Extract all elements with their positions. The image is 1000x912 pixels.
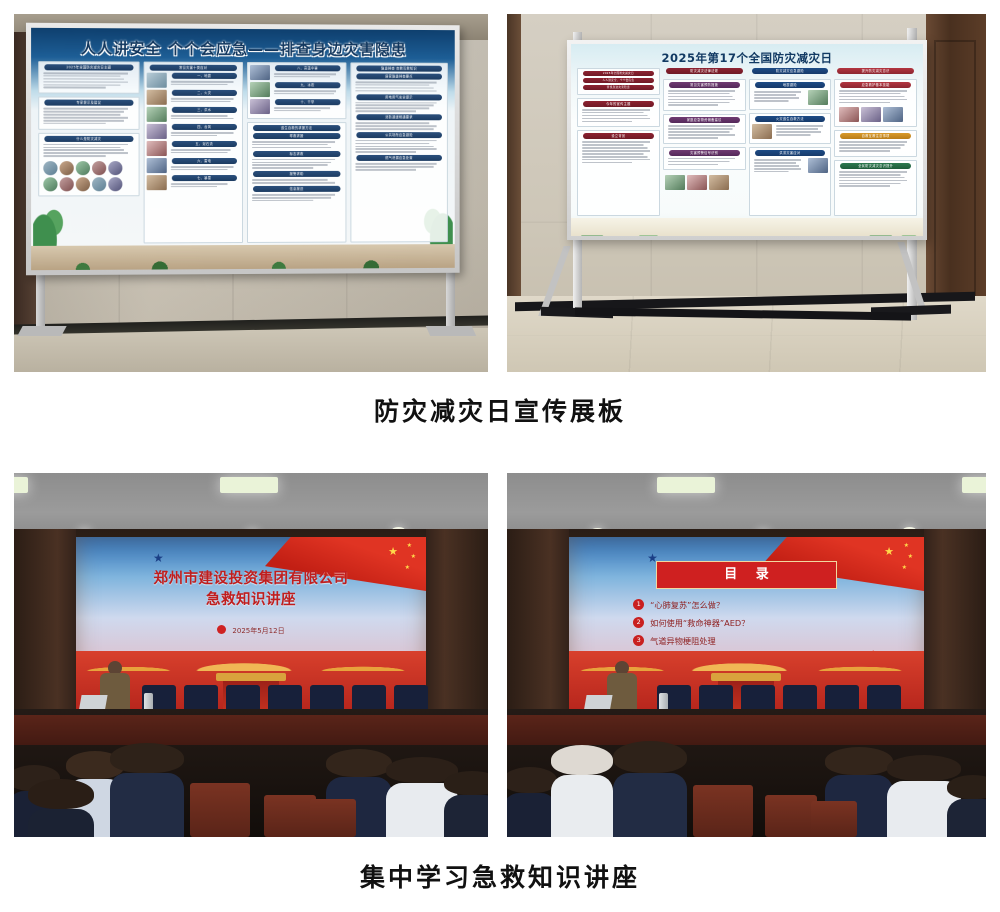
poster-illustration bbox=[146, 158, 166, 173]
flag-star-icon: ★ bbox=[407, 541, 412, 552]
poster-item-header: 三、洪水 bbox=[171, 107, 237, 113]
bench-row bbox=[507, 715, 986, 745]
poster-2-title: 2025年第17个全国防灾减灾日 bbox=[571, 50, 923, 66]
photo-lecture-1: ★ ★ ★ ★ ★ 郑州市建设投资集团有限公司 急救知识讲座 2025年5月12… bbox=[14, 473, 488, 837]
poster-thumbnail bbox=[76, 161, 90, 175]
poster-thumbnail bbox=[108, 161, 122, 175]
toc-title-bar: 目 录 bbox=[656, 561, 837, 589]
poster-illustration bbox=[146, 107, 166, 122]
poster-illustration bbox=[665, 175, 685, 190]
poster-item-header: 五、泥石流 bbox=[171, 141, 237, 147]
poster-1-columns: 2025年全国防灾减灾日主题 专家提示及建议 什么是 bbox=[38, 61, 448, 244]
poster-list-item bbox=[752, 158, 829, 175]
poster-thumbnail bbox=[92, 177, 106, 191]
poster-block: 什么是防灾减灾 bbox=[38, 133, 139, 197]
audience-area-1 bbox=[14, 709, 488, 837]
poster-block-header: 专家提示及建议 bbox=[44, 100, 133, 106]
poster-item-header: 呼救求援 bbox=[253, 133, 340, 139]
audience-person bbox=[28, 779, 94, 837]
ceiling-panel-light bbox=[14, 477, 28, 493]
audience-person bbox=[551, 745, 613, 837]
poster-illustration bbox=[146, 175, 166, 190]
poster-illustration bbox=[146, 90, 166, 105]
poster-list-text: 五、泥石流 bbox=[168, 141, 240, 156]
poster-block-header: 今年的宣传主题 bbox=[583, 101, 654, 107]
poster-item-header: 八、高温中暑 bbox=[275, 65, 340, 71]
poster-block: 洪涝灾害应对 bbox=[749, 147, 832, 216]
poster-illustration-row bbox=[837, 105, 914, 124]
poster-block: 设立背景 bbox=[577, 130, 660, 216]
poster-column-header: 防灾减灾应急避险 bbox=[752, 68, 829, 74]
photo-collage-page: 人人讲安全 个个会应急——排查身边灾害隐患 2025年全国防灾减灾日主题 专家提… bbox=[0, 0, 1000, 912]
poster-item-header: 用电用气安全提示 bbox=[356, 94, 442, 100]
poster-list-item: 三、洪水 bbox=[146, 107, 240, 122]
poster-list-item bbox=[752, 124, 829, 139]
poster-2-column-1: 2025年全国防灾减灾日 人人讲安全、个个会应急 查找身边灾害隐患 今年的宣传主… bbox=[577, 68, 660, 216]
poster-item-header: 七、暴雪 bbox=[171, 175, 237, 181]
poster-illustration bbox=[146, 73, 166, 88]
poster-item-header: 信息报送 bbox=[253, 186, 340, 192]
board-foot-right bbox=[426, 326, 476, 336]
poster-item-header: 四、台风 bbox=[171, 124, 237, 130]
poster-item-header: 报警求助 bbox=[253, 171, 340, 177]
poster-block-header: 常见灾害十类应对 bbox=[149, 65, 237, 71]
poster-1-footer-decoration bbox=[31, 244, 455, 270]
speaker-person bbox=[607, 661, 637, 715]
poster-block: 全民防灾减灾意识提升 bbox=[834, 160, 917, 216]
audience-person bbox=[444, 771, 488, 837]
caption-1: 防灾减灾日宣传展板 bbox=[0, 392, 1000, 428]
flag-star-icon: ★ bbox=[405, 563, 410, 574]
stand-base-right bbox=[875, 242, 949, 322]
date-bullet-icon bbox=[217, 625, 226, 634]
poster-block-header: 2025年全国防灾减灾日主题 bbox=[44, 64, 133, 70]
poster-list-text: 四、台风 bbox=[168, 124, 240, 139]
poster-illustration bbox=[250, 82, 270, 97]
poster-1-column-2: 常见灾害十类应对 一、地震 二 bbox=[143, 62, 243, 244]
slide-title-line-1: 郑州市建设投资集团有限公司 bbox=[104, 569, 398, 590]
flag-star-icon: ★ bbox=[908, 552, 913, 563]
poster-list-item: 二、火灾 bbox=[146, 90, 240, 105]
poster-1-column-3: 八、高温中暑 九、冰雹 bbox=[247, 62, 346, 243]
poster-list-item: 十、干旱 bbox=[250, 99, 343, 114]
poster-block-header: 地震避险 bbox=[755, 82, 826, 88]
slide-content-2: 目 录 1 “心肺复苏”怎么做？ 2 如何使用“救命神器”AED？ 3 气道异物… bbox=[597, 559, 895, 653]
photo-lecture-2: ★ ★ ★ ★ ★ 目 录 1 “心肺复苏”怎么做？ 2 如何使用“救命神器”A… bbox=[507, 473, 986, 837]
blue-star-icon: ★ bbox=[153, 551, 164, 566]
ceiling-panel-light bbox=[657, 477, 715, 493]
poster-block-text bbox=[41, 72, 136, 91]
poster-item-header: 标志求救 bbox=[253, 151, 340, 157]
toc-item-label: “心肺复苏”怎么做？ bbox=[650, 599, 724, 611]
poster-2-column-3: 防灾减灾应急避险 地震避险 火灾逃生自救方法 bbox=[749, 68, 832, 216]
poster-item-header: 十、干旱 bbox=[275, 99, 340, 105]
poster-block: 火灾逃生自救方法 bbox=[749, 113, 832, 144]
audience-person bbox=[613, 741, 687, 837]
poster-item-header: 二、火灾 bbox=[171, 90, 237, 96]
photo-board-2: 2025年第17个全国防灾减灾日 2025年全国防灾减灾日 人人讲安全、个个会应… bbox=[507, 14, 986, 372]
poster-illustration bbox=[687, 175, 707, 190]
poster-block-header: 全民防灾减灾意识提升 bbox=[840, 163, 911, 169]
board-leg-left bbox=[36, 272, 45, 334]
poster-list-item: 七、暴雪 bbox=[146, 175, 240, 190]
poster-thumbnail bbox=[43, 161, 57, 175]
poster-thumbnail-grid bbox=[41, 159, 136, 193]
poster-illustration bbox=[250, 65, 270, 80]
poster-illustration bbox=[839, 107, 859, 122]
poster-1-title: 人人讲安全 个个会应急——排查身边灾害隐患 bbox=[31, 37, 455, 60]
poster-block: 地震避险 bbox=[749, 79, 832, 110]
poster-thumbnail bbox=[76, 177, 90, 191]
poster-block: 2025年全国防灾减灾日主题 bbox=[38, 61, 139, 94]
poster-block: 应急救护基本技能 bbox=[834, 79, 917, 127]
poster-thumbnail bbox=[43, 177, 57, 191]
poster-list-text: 七、暴雪 bbox=[168, 175, 240, 190]
poster-thumbnail bbox=[92, 161, 106, 175]
poster-block-header: 逃生自救的求援方法 bbox=[253, 125, 340, 131]
chair bbox=[310, 799, 356, 837]
poster-block-header: 自救互救注意事项 bbox=[840, 133, 911, 139]
poster-illustration bbox=[250, 99, 270, 114]
poster-illustration bbox=[709, 175, 729, 190]
poster-list-text: 十、干旱 bbox=[272, 99, 343, 114]
poster-block: 八、高温中暑 九、冰雹 bbox=[247, 62, 346, 119]
audience-area-2 bbox=[507, 709, 986, 837]
poster-list-text: 六、雷电 bbox=[168, 158, 240, 173]
audience-person bbox=[507, 767, 557, 837]
poster-list-item: 六、雷电 bbox=[146, 158, 240, 173]
poster-item-header: 居家隐患排查要点 bbox=[356, 73, 442, 79]
poster-block: 逃生自救的求援方法 呼救求援 标志求救 报警求助 信息报送 bbox=[247, 122, 346, 243]
poster-item-header: 九、冰雹 bbox=[275, 82, 340, 88]
poster-1-column-4: 隐患排查 自救互救知识 居家隐患排查要点 用电用气安全提示 消防通道畅通要求 公… bbox=[350, 62, 448, 242]
poster-list-text: 九、冰雹 bbox=[272, 82, 343, 97]
poster-1-column-1: 2025年全国防灾减灾日主题 专家提示及建议 什么是 bbox=[38, 61, 139, 244]
caption-2: 集中学习急救知识讲座 bbox=[0, 858, 1000, 894]
left-door-edge bbox=[507, 14, 521, 314]
poster-thumbnail bbox=[108, 177, 122, 191]
poster-column-header: 提升防灾减灾意识 bbox=[837, 68, 914, 74]
toc-item-label: 如何使用“救命神器”AED？ bbox=[650, 617, 749, 629]
audience-person bbox=[947, 775, 986, 837]
poster-illustration bbox=[808, 158, 828, 173]
photo-board-1: 人人讲安全 个个会应急——排查身边灾害隐患 2025年全国防灾减灾日主题 专家提… bbox=[14, 14, 488, 372]
poster-block-text bbox=[41, 144, 136, 160]
poster-2-column-2: 防灾减灾法律法规 常见灾害预防措施 家庭应急物资储备建议 灾害预警信号识别 bbox=[663, 68, 746, 216]
poster-list-item: 四、台风 bbox=[146, 124, 240, 139]
poster-block-header: 应急救护基本技能 bbox=[840, 82, 911, 88]
poster-surface-1: 人人讲安全 个个会应急——排查身边灾害隐患 2025年全国防灾减灾日主题 专家提… bbox=[31, 28, 455, 270]
poster-list-text: 三、洪水 bbox=[168, 107, 240, 122]
chair bbox=[264, 795, 316, 837]
ceiling-panel-light bbox=[962, 477, 986, 493]
poster-list-item: 一、地震 bbox=[146, 73, 240, 88]
poster-thumbnail bbox=[60, 177, 74, 191]
chair bbox=[765, 795, 817, 837]
poster-list-item: 九、冰雹 bbox=[250, 82, 343, 97]
flag-star-icon: ★ bbox=[884, 547, 894, 558]
toc-item: 1 “心肺复苏”怎么做？ bbox=[633, 599, 895, 611]
poster-badge-slogan-2: 查找身边灾害隐患 bbox=[583, 85, 654, 90]
poster-block: 常见灾害十类应对 一、地震 二 bbox=[143, 62, 243, 244]
poster-block-header: 常见灾害预防措施 bbox=[669, 82, 740, 88]
audience-person bbox=[110, 743, 184, 837]
poster-list-item bbox=[752, 90, 829, 105]
slide-title-line-2: 急救知识讲座 bbox=[104, 590, 398, 611]
poster-block: 常见灾害预防措施 bbox=[663, 79, 746, 111]
poster-block: 专家提示及建议 bbox=[38, 97, 139, 130]
slide-content-1: 郑州市建设投资集团有限公司 急救知识讲座 2025年5月12日 bbox=[104, 569, 398, 636]
poster-thumbnail bbox=[60, 161, 74, 175]
poster-list-item: 五、泥石流 bbox=[146, 141, 240, 156]
poster-list-item: 八、高温中暑 bbox=[250, 65, 343, 80]
flag-star-icon: ★ bbox=[904, 541, 909, 552]
poster-illustration bbox=[752, 124, 772, 139]
poster-block-header: 火灾逃生自救方法 bbox=[755, 116, 826, 122]
poster-surface-2: 2025年第17个全国防灾减灾日 2025年全国防灾减灾日 人人讲安全、个个会应… bbox=[571, 44, 923, 236]
poster-block: 自救互救注意事项 bbox=[834, 130, 917, 157]
poster-frame-1: 人人讲安全 个个会应急——排查身边灾害隐患 2025年全国防灾减灾日主题 专家提… bbox=[26, 23, 460, 276]
toc-item-number: 2 bbox=[633, 617, 644, 628]
slide-date-text: 2025年5月12日 bbox=[232, 627, 284, 635]
poster-badge-slogan-1: 人人讲安全、个个会应急 bbox=[583, 78, 654, 83]
slide-date: 2025年5月12日 bbox=[104, 625, 398, 636]
poster-item-header: 六、雷电 bbox=[171, 158, 237, 164]
poster-column-header: 防灾减灾法律法规 bbox=[666, 68, 743, 74]
poster-illustration bbox=[883, 107, 903, 122]
poster-block: 灾害预警信号识别 bbox=[663, 147, 746, 171]
poster-block-header: 什么是防灾减灾 bbox=[44, 136, 133, 142]
poster-block: 隐患排查 自救互救知识 居家隐患排查要点 用电用气安全提示 消防通道畅通要求 公… bbox=[350, 62, 448, 242]
poster-block: 今年的宣传主题 bbox=[577, 98, 660, 127]
poster-illustration-row bbox=[663, 173, 746, 192]
toc-item-number: 1 bbox=[633, 599, 644, 610]
poster-list-text: 二、火灾 bbox=[168, 90, 240, 105]
poster-illustration bbox=[146, 141, 166, 156]
poster-item-header: 一、地震 bbox=[171, 73, 237, 79]
poster-block-header: 家庭应急物资储备建议 bbox=[669, 117, 740, 123]
poster-illustration bbox=[146, 124, 166, 139]
poster-block-header: 灾害预警信号识别 bbox=[669, 150, 740, 156]
flag-star-icon: ★ bbox=[388, 547, 398, 558]
chair bbox=[811, 801, 857, 837]
poster-item-header: 公共场所应急避险 bbox=[356, 132, 442, 138]
poster-item-header: 消防通道畅通要求 bbox=[356, 114, 442, 120]
poster-badge: 2025年全国防灾减灾日 人人讲安全、个个会应急 查找身边灾害隐患 bbox=[577, 68, 660, 95]
poster-illustration bbox=[808, 90, 828, 105]
toc-item: 2 如何使用“救命神器”AED？ bbox=[633, 617, 895, 629]
poster-2-columns: 2025年全国防灾减灾日 人人讲安全、个个会应急 查找身边灾害隐患 今年的宣传主… bbox=[577, 68, 917, 216]
poster-block: 家庭应急物资储备建议 bbox=[663, 114, 746, 143]
poster-list-text: 一、地震 bbox=[168, 73, 240, 88]
board-leg-right bbox=[446, 272, 455, 334]
poster-2-column-4: 提升防灾减灾意识 应急救护基本技能 自救互救注意事项 bbox=[834, 68, 917, 216]
poster-frame-2: 2025年第17个全国防灾减灾日 2025年全国防灾减灾日 人人讲安全、个个会应… bbox=[567, 40, 927, 240]
flag-star-icon: ★ bbox=[411, 552, 416, 563]
poster-badge-year: 2025年全国防灾减灾日 bbox=[583, 71, 654, 76]
poster-block-header: 隐患排查 自救互救知识 bbox=[356, 65, 442, 71]
chair bbox=[693, 785, 753, 837]
poster-block-header: 设立背景 bbox=[583, 133, 654, 139]
bench-row bbox=[14, 715, 488, 745]
poster-block-header: 洪涝灾害应对 bbox=[755, 150, 826, 156]
poster-item-header: 燃气泄漏应急处置 bbox=[356, 155, 442, 161]
ceiling-panel-light bbox=[220, 477, 278, 493]
poster-2-footer-decoration bbox=[571, 218, 923, 236]
flag-star-icon: ★ bbox=[902, 563, 907, 574]
poster-illustration bbox=[861, 107, 881, 122]
chair bbox=[190, 783, 250, 837]
floor-surface bbox=[14, 328, 488, 372]
poster-list-text: 八、高温中暑 bbox=[272, 65, 343, 80]
board-foot-left bbox=[17, 326, 66, 336]
poster-block-text bbox=[41, 108, 136, 127]
